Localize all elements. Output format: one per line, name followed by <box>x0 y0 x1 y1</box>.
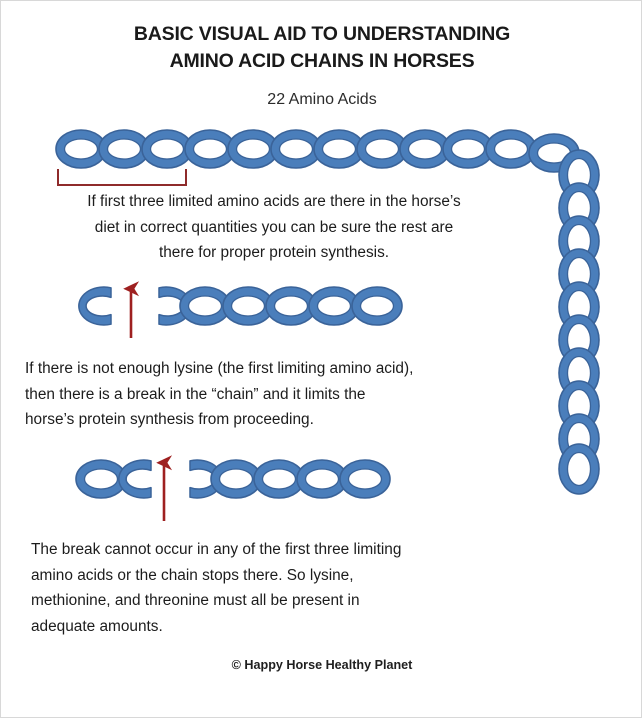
page-title-line-2: AMINO ACID CHAINS IN HORSES <box>1 48 642 75</box>
infographic-canvas: BASIC VISUAL AID TO UNDERSTANDING AMINO … <box>0 0 642 718</box>
chain-broken-first <box>79 287 402 325</box>
paragraph-3-line-4: adequate amounts. <box>31 614 511 640</box>
paragraph-3-line-1: The break cannot occur in any of the fir… <box>31 537 511 563</box>
copyright-credit: © Happy Horse Healthy Planet <box>1 658 642 672</box>
explanation-paragraph-2: If there is not enough lysine (the first… <box>25 356 535 433</box>
paragraph-3-line-3: methionine, and threonine must all be pr… <box>31 588 511 614</box>
paragraph-2-line-2: then there is a break in the “chain” and… <box>25 382 535 408</box>
explanation-paragraph-3: The break cannot occur in any of the fir… <box>31 537 511 639</box>
chain-broken-second <box>76 460 390 498</box>
paragraph-1-line-3: there for proper protein synthesis. <box>29 240 519 266</box>
chain-top-horizontal <box>56 130 579 172</box>
paragraph-2-line-1: If there is not enough lysine (the first… <box>25 356 535 382</box>
paragraph-1-line-1: If first three limited amino acids are t… <box>29 189 519 215</box>
explanation-paragraph-1: If first three limited amino acids are t… <box>29 189 519 266</box>
subtitle-amino-acid-count: 22 Amino Acids <box>1 91 642 109</box>
paragraph-2-line-3: horse’s protein synthesis from proceedin… <box>25 407 535 433</box>
page-title-line-1: BASIC VISUAL AID TO UNDERSTANDING <box>1 21 642 48</box>
chain-right-vertical <box>559 150 599 494</box>
paragraph-1-line-2: diet in correct quantities you can be su… <box>29 215 519 241</box>
paragraph-3-line-2: amino acids or the chain stops there. So… <box>31 563 511 589</box>
first-three-bracket <box>58 169 186 185</box>
